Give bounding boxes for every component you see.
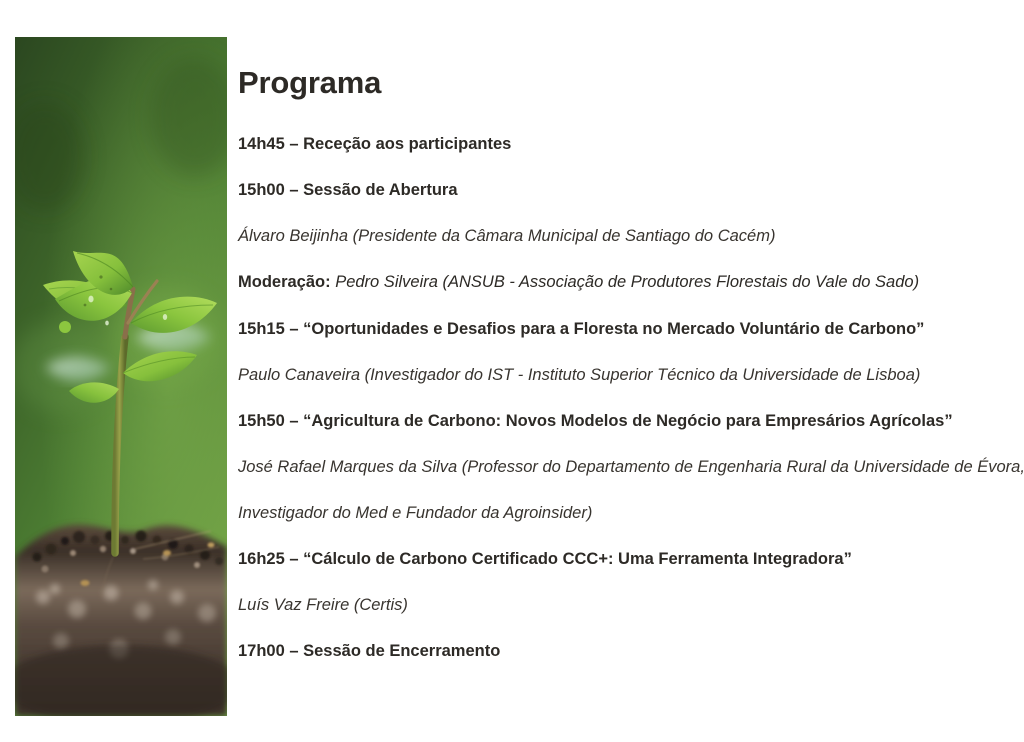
program-item-1625: 16h25 – “Cálculo de Carbono Certificado … xyxy=(238,549,1020,570)
seedling-in-soil-photo xyxy=(15,37,227,716)
program-moderation-line: Moderação: Pedro Silveira (ANSUB - Assoc… xyxy=(238,272,1020,293)
photo-artwork xyxy=(15,37,227,716)
program-item-1500: 15h00 – Sessão de Abertura xyxy=(238,180,1020,201)
page-title: Programa xyxy=(238,66,1020,100)
program-content: Programa 14h45 – Receção aos participant… xyxy=(238,66,1020,688)
program-speaker-jose-rafael-marques-da-silva: José Rafael Marques da Silva (Professor … xyxy=(238,457,1020,478)
moderation-speaker: Pedro Silveira (ANSUB - Associação de Pr… xyxy=(331,273,919,291)
program-item-1445: 14h45 – Receção aos participantes xyxy=(238,134,1020,155)
program-speaker-paulo-canaveira: Paulo Canaveira (Investigador do IST - I… xyxy=(238,365,1020,386)
program-item-1700: 17h00 – Sessão de Encerramento xyxy=(238,641,1020,662)
slide-page: Programa 14h45 – Receção aos participant… xyxy=(0,0,1024,742)
program-item-1550: 15h50 – “Agricultura de Carbono: Novos M… xyxy=(238,411,1020,432)
program-item-1515: 15h15 – “Oportunidades e Desafios para a… xyxy=(238,319,1020,340)
program-speaker-alvaro-beijinha: Álvaro Beijinha (Presidente da Câmara Mu… xyxy=(238,226,1020,247)
moderation-label: Moderação: xyxy=(238,273,331,291)
program-speaker-jose-rafael-marques-da-silva-continuation: Investigador do Med e Fundador da Agroin… xyxy=(238,503,1020,524)
program-speaker-luis-vaz-freire: Luís Vaz Freire (Certis) xyxy=(238,595,1020,616)
